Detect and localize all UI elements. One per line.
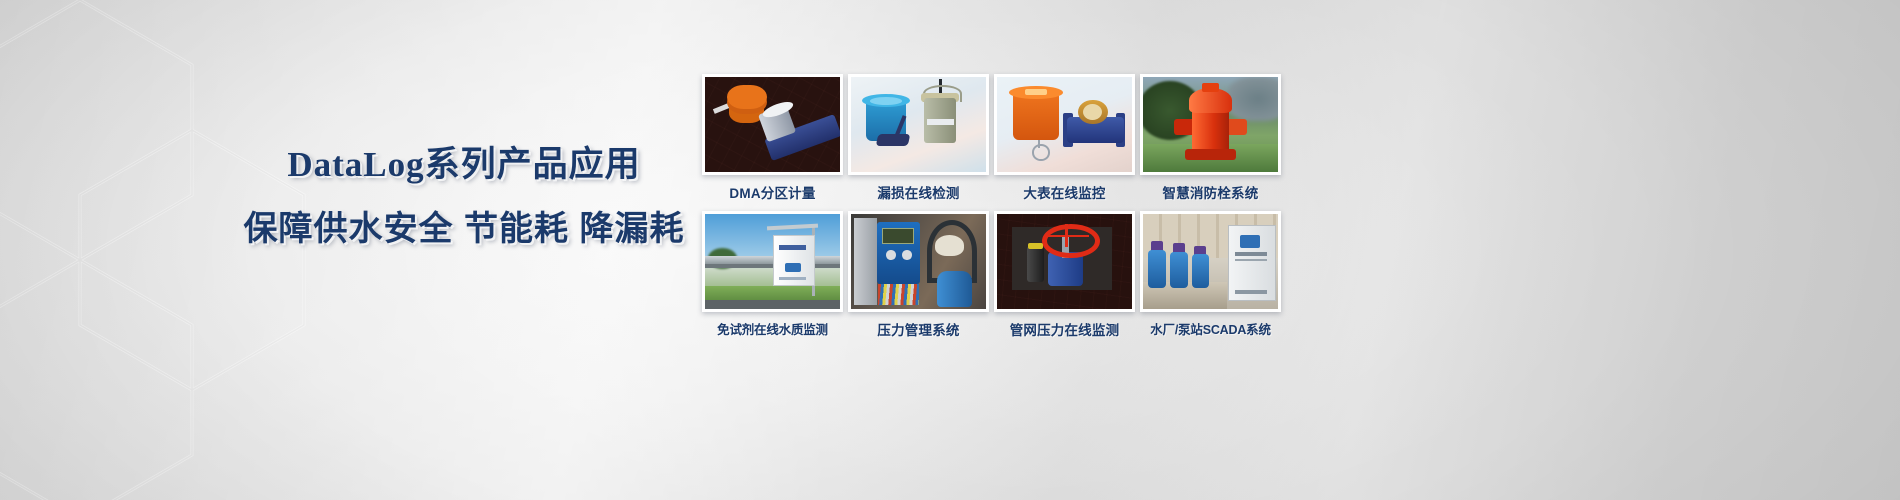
product-caption-7: 管网压力在线监测 (994, 319, 1135, 339)
large-meter-monitoring-photo (997, 77, 1132, 172)
product-caption-4: 智慧消防栓系统 (1140, 182, 1281, 202)
headline-block: DataLog系列产品应用 保障供水安全 节能耗 降漏耗 (214, 142, 714, 252)
product-caption-2: 漏损在线检测 (848, 182, 989, 202)
pipe-network-pressure-photo (997, 214, 1132, 309)
product-thumbnail-7[interactable] (994, 211, 1135, 312)
headline-line-1: DataLog系列产品应用 (214, 142, 714, 188)
product-caption-5: 免试剂在线水质监测 (702, 319, 843, 338)
smart-hydrant-photo (1143, 77, 1278, 172)
product-thumbnail-2[interactable] (848, 74, 989, 175)
product-thumbnail-3[interactable] (994, 74, 1135, 175)
product-card-4[interactable]: 智慧消防栓系统 (1140, 74, 1281, 202)
product-caption-6: 压力管理系统 (848, 319, 989, 339)
leak-online-detection-photo (851, 77, 986, 172)
product-card-7[interactable]: 管网压力在线监测 (994, 211, 1135, 339)
scada-pump-station-photo (1143, 214, 1278, 309)
product-thumbnail-4[interactable] (1140, 74, 1281, 175)
product-thumbnail-1[interactable] (702, 74, 843, 175)
product-thumbnail-8[interactable] (1140, 211, 1281, 312)
headline-line-2: 保障供水安全 节能耗 降漏耗 (214, 206, 714, 252)
dma-metering-photo (705, 77, 840, 172)
product-caption-1: DMA分区计量 (702, 182, 843, 202)
product-card-1[interactable]: DMA分区计量 (702, 74, 843, 202)
product-thumbnail-5[interactable] (702, 211, 843, 312)
product-card-8[interactable]: 水厂/泵站SCADA系统 (1140, 211, 1281, 339)
product-thumbnail-6[interactable] (848, 211, 989, 312)
product-card-3[interactable]: 大表在线监控 (994, 74, 1135, 202)
product-grid: DMA分区计量 漏损在线检测 大表在线监控 (702, 74, 1281, 339)
product-card-5[interactable]: 免试剂在线水质监测 (702, 211, 843, 339)
product-caption-3: 大表在线监控 (994, 182, 1135, 202)
promo-banner: DataLog系列产品应用 保障供水安全 节能耗 降漏耗 DMA分区计量 漏损在… (0, 0, 1900, 500)
pressure-management-photo (851, 214, 986, 309)
reagent-free-water-quality-photo (705, 214, 840, 309)
product-caption-8: 水厂/泵站SCADA系统 (1140, 319, 1281, 338)
product-card-2[interactable]: 漏损在线检测 (848, 74, 989, 202)
product-card-6[interactable]: 压力管理系统 (848, 211, 989, 339)
